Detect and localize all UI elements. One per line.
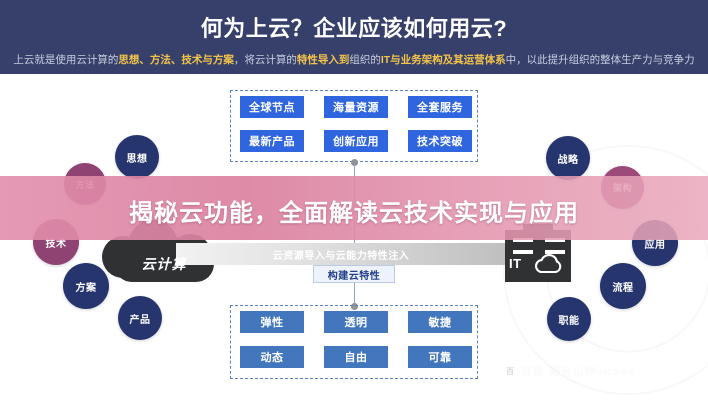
subtitle-part-7: 中，以此提升组织的整体生产力与竞争力 — [506, 54, 695, 66]
subtitle-part-2: 思想、方法、技术与方案 — [118, 54, 234, 66]
tag-elastic[interactable]: 弹性 — [240, 311, 304, 333]
tag-reliable[interactable]: 可靠 — [408, 346, 472, 368]
tag-tech-breakthrough[interactable]: 技术突破 — [408, 130, 472, 152]
right-circle-process: 流程 — [600, 263, 646, 309]
tag-dynamic[interactable]: 动态 — [240, 346, 304, 368]
tag-transparent[interactable]: 透明 — [324, 311, 388, 333]
tag-agile[interactable]: 敏捷 — [408, 311, 472, 333]
baidu-logo-icon: 百 — [503, 364, 517, 378]
left-circle-thought: 思想 — [115, 135, 159, 179]
tag-massive-resources[interactable]: 海量资源 — [324, 96, 388, 118]
it-server-label: IT — [509, 256, 522, 271]
cloud-computing-label: 云计算 — [114, 246, 214, 282]
tag-newest-products-label: 最新产品 — [249, 133, 295, 149]
tag-reliable-label: 可靠 — [429, 349, 452, 365]
header-title: 何为上云？企业应该如何用云? — [0, 11, 708, 43]
tag-global-nodes-label: 全球节点 — [249, 99, 295, 115]
right-circle-function-label: 职能 — [559, 312, 580, 327]
right-circle-strategy: 战略 — [546, 136, 590, 180]
tag-innovative-apps-label: 创新应用 — [333, 133, 379, 149]
cloud-resources-row-1: 全球节点 海量资源 全套服务 — [240, 96, 472, 118]
left-circle-solution-label: 方案 — [76, 279, 97, 294]
subtitle-part-6: IT与业务架构及其运营体系 — [381, 54, 506, 66]
subtitle-part-5: 组织的 — [349, 54, 381, 66]
watermark-text: 百度 阳光山岸vicnao — [521, 363, 635, 379]
tag-massive-resources-label: 海量资源 — [333, 99, 379, 115]
header-subtitle: 上云就是使用云计算的思想、方法、技术与方案，将云计算的特性导入到组织的IT与业务… — [0, 54, 708, 67]
tag-full-service-label: 全套服务 — [417, 99, 463, 115]
tag-global-nodes[interactable]: 全球节点 — [240, 96, 304, 118]
tag-tech-breakthrough-label: 技术突破 — [417, 133, 463, 149]
build-cloud-traits-label: 构建云特性 — [328, 267, 381, 282]
cloud-resources-row-2: 最新产品 创新应用 技术突破 — [240, 130, 472, 152]
tag-elastic-label: 弹性 — [261, 314, 284, 330]
injection-arrow-label: 云资源导入与云能力特性注入 — [176, 247, 506, 262]
tag-agile-label: 敏捷 — [429, 314, 452, 330]
tag-newest-products[interactable]: 最新产品 — [240, 130, 304, 152]
left-circle-product: 产品 — [118, 296, 162, 340]
subtitle-part-3: ，将云计算的 — [234, 54, 297, 66]
tag-dynamic-label: 动态 — [261, 349, 284, 365]
right-circle-function: 职能 — [547, 297, 591, 341]
tag-full-service[interactable]: 全套服务 — [408, 96, 472, 118]
right-circle-process-label: 流程 — [613, 279, 634, 294]
tag-transparent-label: 透明 — [345, 314, 368, 330]
subtitle-part-1: 上云就是使用云计算的 — [13, 54, 118, 66]
left-circle-product-label: 产品 — [130, 311, 151, 326]
cloud-traits-row-1: 弹性 透明 敏捷 — [240, 311, 472, 333]
it-slot-3 — [513, 250, 533, 254]
cloud-traits-row-2: 动态 自由 可靠 — [240, 346, 472, 368]
overlay-title: 揭秘云功能，全面解读云技术实现与应用 — [0, 193, 708, 228]
build-cloud-traits-chip[interactable]: 构建云特性 — [313, 265, 395, 283]
watermark: 百 百度 阳光山岸vicnao — [503, 363, 635, 379]
subtitle-part-4: 特性导入到 — [297, 54, 350, 66]
tag-free[interactable]: 自由 — [324, 346, 388, 368]
it-server-foot — [505, 278, 571, 282]
tag-innovative-apps[interactable]: 创新应用 — [324, 130, 388, 152]
it-cloud-glyph — [533, 254, 567, 276]
header-banner: 何为上云？企业应该如何用云? 上云就是使用云计算的思想、方法、技术与方案，将云计… — [0, 0, 708, 74]
right-circle-strategy-label: 战略 — [558, 151, 579, 166]
left-circle-thought-label: 思想 — [127, 150, 148, 165]
tag-free-label: 自由 — [345, 349, 368, 365]
infographic-canvas: 何为上云？企业应该如何用云? 上云就是使用云计算的思想、方法、技术与方案，将云计… — [0, 0, 708, 400]
